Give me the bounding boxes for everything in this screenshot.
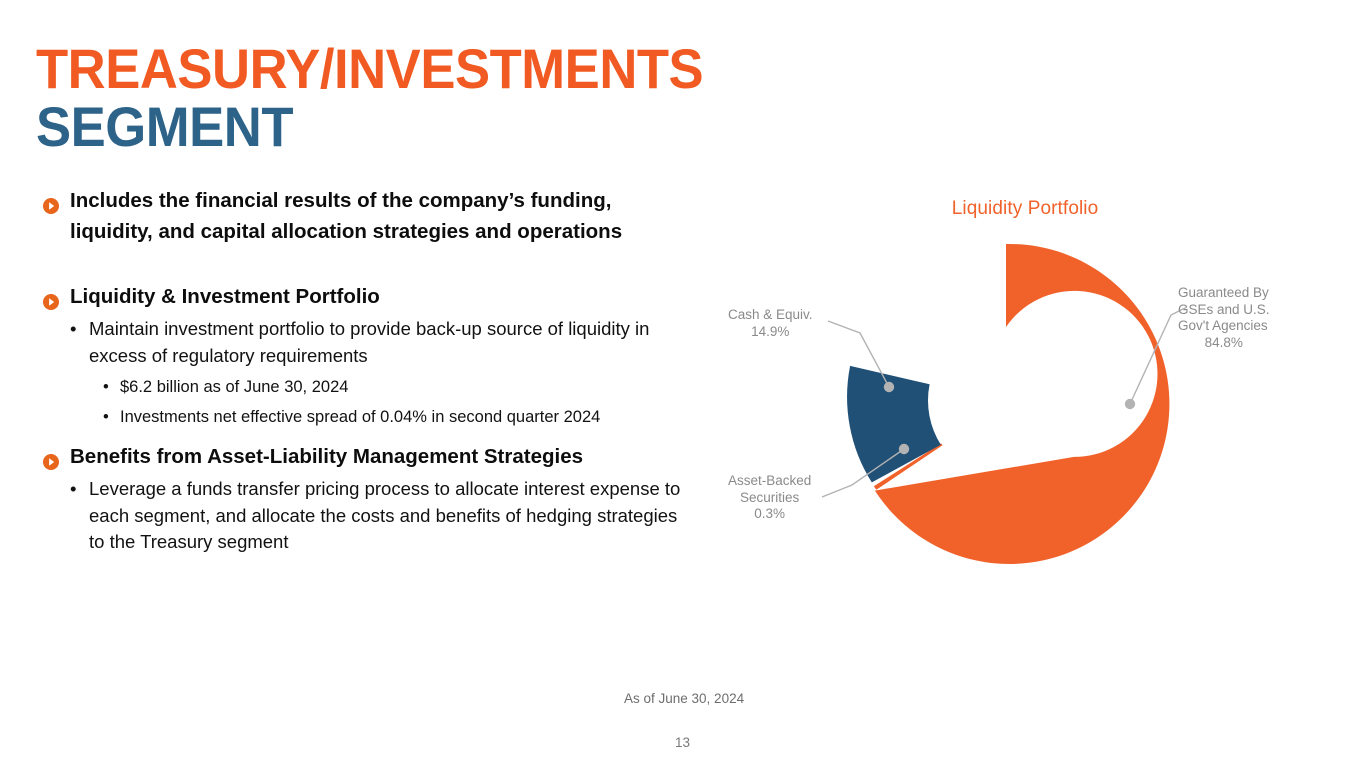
data-label-value: 0.3% [728,506,811,523]
data-label-name-line1: Asset-Backed [728,473,811,490]
bullet-dot-icon: • [103,375,109,399]
bullet-dot-icon: • [70,476,76,503]
sub-sub-bullet-text: $6.2 billion as of June 30, 2024 [120,378,348,396]
sub-bullet-text: Leverage a funds transfer pricing proces… [89,478,680,552]
as-of-date-footnote: As of June 30, 2024 [624,691,744,706]
data-label-value: 84.8% [1178,335,1270,352]
bullet-item-overview: Includes the financial results of the co… [36,185,696,247]
play-circle-bullet-icon [43,192,59,208]
bullet-text: Includes the financial results of the co… [70,189,622,243]
sub-bullet-maintain-portfolio: • Maintain investment portfolio to provi… [36,316,696,369]
page-title: TREASURY/INVESTMENTS SEGMENT [36,40,796,156]
data-label-name-line2: Securities [728,490,811,507]
title-line-secondary: SEGMENT [36,98,750,156]
spacer [36,251,696,281]
sub-bullet-funds-transfer-pricing: • Leverage a funds transfer pricing proc… [36,476,696,556]
sub-sub-bullet-text: Investments net effective spread of 0.04… [120,408,600,426]
liquidity-portfolio-chart: Liquidity Portfolio [700,185,1365,605]
play-circle-bullet-icon [43,448,59,464]
page-number: 13 [0,735,1365,750]
bullet-dot-icon: • [70,316,76,343]
bullet-text: Benefits from Asset-Liability Management… [70,445,583,468]
data-label-name-line3: Gov't Agencies [1178,318,1270,335]
bullet-item-liquidity-portfolio: Liquidity & Investment Portfolio [36,281,696,312]
data-label-asset-backed-securities: Asset-Backed Securities 0.3% [728,473,811,523]
content-body: Includes the financial results of the co… [36,185,696,556]
data-label-value: 14.9% [728,324,813,341]
title-line-primary: TREASURY/INVESTMENTS [36,40,750,98]
play-circle-bullet-icon [43,288,59,304]
data-label-name-line2: GSEs and U.S. [1178,302,1270,319]
spacer [36,429,696,441]
data-label-name-line1: Guaranteed By [1178,285,1270,302]
bullet-item-alm-benefits: Benefits from Asset-Liability Management… [36,441,696,472]
data-label-gses: Guaranteed By GSEs and U.S. Gov't Agenci… [1178,285,1270,351]
data-label-name: Cash & Equiv. [728,307,813,324]
bullet-dot-icon: • [103,405,109,429]
sub-sub-bullet-balance: • $6.2 billion as of June 30, 2024 [36,375,696,399]
donut-slice-cash-and-equivalents[interactable] [847,366,941,483]
data-label-cash-and-equivalents: Cash & Equiv. 14.9% [728,307,813,340]
sub-bullet-text: Maintain investment portfolio to provide… [89,318,649,366]
bullet-text: Liquidity & Investment Portfolio [70,285,380,308]
sub-sub-bullet-spread: • Investments net effective spread of 0.… [36,405,696,429]
slide: TREASURY/INVESTMENTS SEGMENT Includes th… [0,0,1365,768]
donut-chart-graphic [700,185,1365,605]
